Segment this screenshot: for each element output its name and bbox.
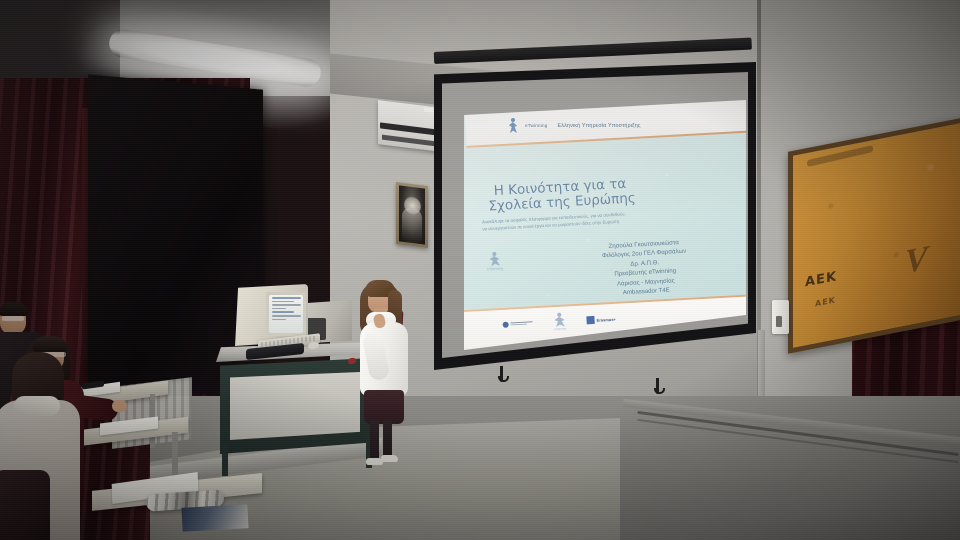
presenter-skirt [364,390,404,424]
audience-man-glasses-icon [2,316,24,321]
projector-screen: eTwinning Ελληνική Υπηρεσία Υποστήριξης … [434,62,756,370]
desk-modesty-panel [230,372,360,440]
audience-man-hair [0,302,28,316]
screen-hook-left [500,366,503,382]
standing-presenter [352,278,416,470]
slide-footer-logos: eTwinning Erasmus+ [502,310,616,334]
etwinning-footer-logo-icon: eTwinning [552,312,567,331]
etwinning-logo-icon [508,118,519,133]
magazine-on-desk [181,504,248,531]
etwinning-watermark-icon [489,252,500,267]
classroom-photo: ΑΕΚ ΑΕΚ V eTwinning Ελληνική Υπηρεσία Υπ… [0,0,960,540]
audience-woman-hand [112,400,127,412]
presenter-shoe-right [381,455,398,462]
slide-watermark-label: eTwinning [482,266,508,271]
wall-box-slot [776,316,782,327]
etwinning-wordmark: eTwinning [525,123,548,128]
icon-artwork [399,185,425,244]
erasmus-logo-icon: Erasmus+ [586,315,616,325]
slide-presenter-block: Ζησούλα Γκουτσιουκώστα Φιλόλογος 2ου ΓΕΛ… [559,235,732,301]
cork-pin-board: ΑΕΚ ΑΕΚ V [788,116,960,353]
desk-leg-left [222,446,228,476]
presenter-leg-left [370,420,379,462]
screen-hook-right [656,378,659,394]
crt-monitor-screen [269,295,303,333]
presentation-slide: eTwinning Ελληνική Υπηρεσία Υποστήριξης … [464,100,746,350]
slide-watermark-logo: eTwinning [481,251,509,282]
framed-religious-icon [396,182,428,248]
presenter-leg-right [383,420,392,460]
icon-figure [402,207,422,241]
ministry-logo-icon [503,320,533,328]
cork-scrawl: V [905,239,929,282]
audience-front-collar [14,396,60,416]
audience-front-lower [0,470,50,540]
slide-header-row: eTwinning Ελληνική Υπηρεσία Υποστήριξης [508,118,641,133]
cork-texture [793,122,960,347]
slide-organisation-label: Ελληνική Υπηρεσία Υποστήριξης [558,123,641,129]
screen-surface: eTwinning Ελληνική Υπηρεσία Υποστήριξης … [442,72,748,358]
audience-woman-hair [33,336,67,352]
